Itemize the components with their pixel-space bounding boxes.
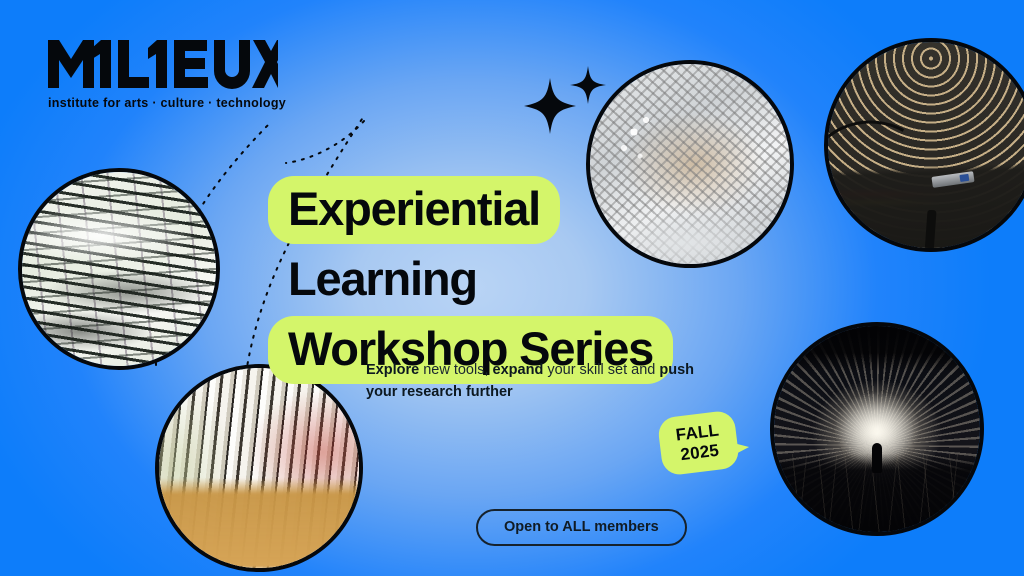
milieux-logo: institute for arts · culture · technolog… — [48, 38, 286, 110]
subtitle: Explore new tools, expand your skill set… — [366, 360, 696, 404]
subtitle-text-4: your skill set and — [543, 362, 659, 378]
speech-bubble-tail-icon — [727, 441, 749, 458]
crystal-microscopy-texture — [22, 172, 216, 366]
logo-tagline: institute for arts · culture · technolog… — [48, 96, 286, 110]
title-line-1: Experiential — [268, 176, 560, 244]
milieux-wordmark-icon — [48, 38, 278, 90]
image-light-painting — [770, 322, 984, 536]
image-etextile-wires — [824, 38, 1024, 252]
poster-canvas: institute for arts · culture · technolog… — [0, 0, 1024, 576]
subtitle-bold-3: expand — [493, 362, 544, 378]
fall-2025-badge: FALL 2025 — [657, 410, 741, 477]
page-title: Experiential Learning Workshop Series — [268, 176, 720, 386]
open-to-all-members-badge[interactable]: Open to ALL members — [476, 509, 687, 546]
stacked-books-texture — [159, 368, 359, 568]
image-stacked-books — [155, 364, 363, 572]
silhouette-figure — [872, 443, 882, 473]
subtitle-bold-1: Explore — [366, 362, 419, 378]
image-crystal-microscopy — [18, 168, 220, 370]
subtitle-text-2: new tools, — [419, 362, 492, 378]
title-line-2: Learning — [268, 246, 497, 314]
sparkle-large-icon — [524, 78, 576, 134]
